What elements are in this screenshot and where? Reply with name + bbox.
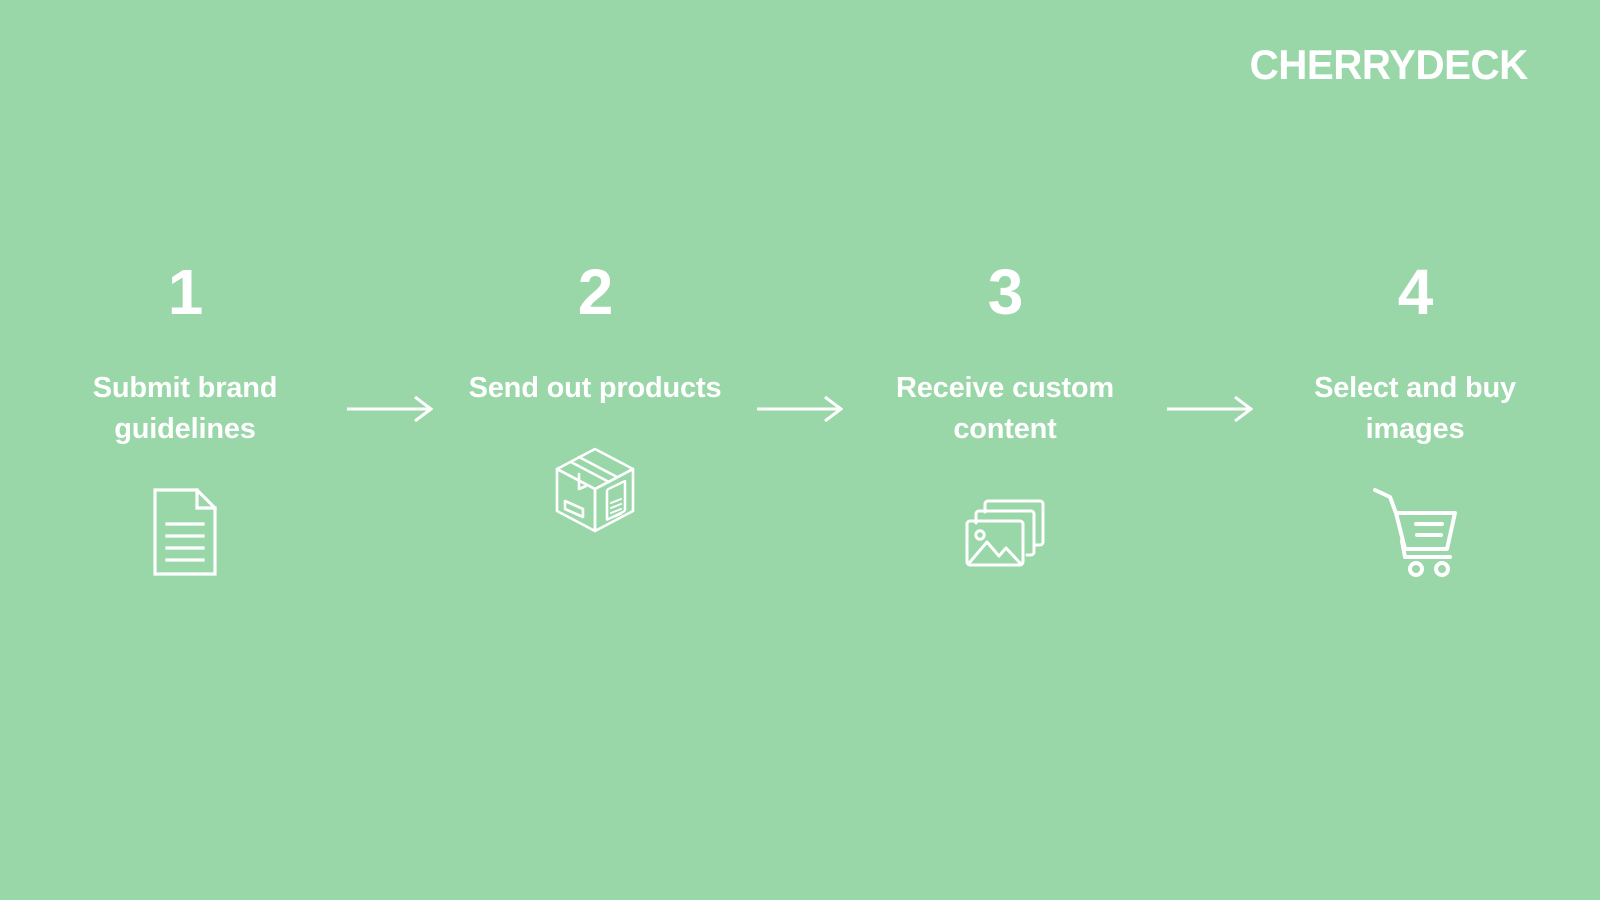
step-label-3: Receive custom content	[870, 368, 1140, 451]
step-number-2: 2	[578, 258, 613, 326]
stacked-photos-icon	[965, 487, 1045, 577]
process-step-4: 4 Select and buy images	[1290, 258, 1540, 577]
shopping-cart-icon	[1372, 487, 1458, 577]
arrow-right-icon-1	[345, 396, 435, 422]
process-steps-row: 1 Submit brand guidelines 2 Send out pro…	[60, 258, 1540, 588]
step-number-4: 4	[1398, 258, 1433, 326]
brand-logo: CHERRYDECK	[1250, 44, 1528, 86]
step-number-1: 1	[168, 258, 203, 326]
process-step-1: 1 Submit brand guidelines	[60, 258, 310, 577]
arrow-right-icon-3	[1165, 396, 1255, 422]
package-box-icon	[549, 445, 641, 535]
step-label-4: Select and buy images	[1280, 368, 1550, 451]
step-label-1: Submit brand guidelines	[50, 368, 320, 451]
process-step-2: 2 Send out products	[470, 258, 720, 535]
arrow-right-icon-2	[755, 396, 845, 422]
document-icon	[153, 487, 217, 577]
step-number-3: 3	[988, 258, 1023, 326]
process-step-3: 3 Receive custom content	[880, 258, 1130, 577]
step-label-2: Send out products	[460, 368, 730, 409]
